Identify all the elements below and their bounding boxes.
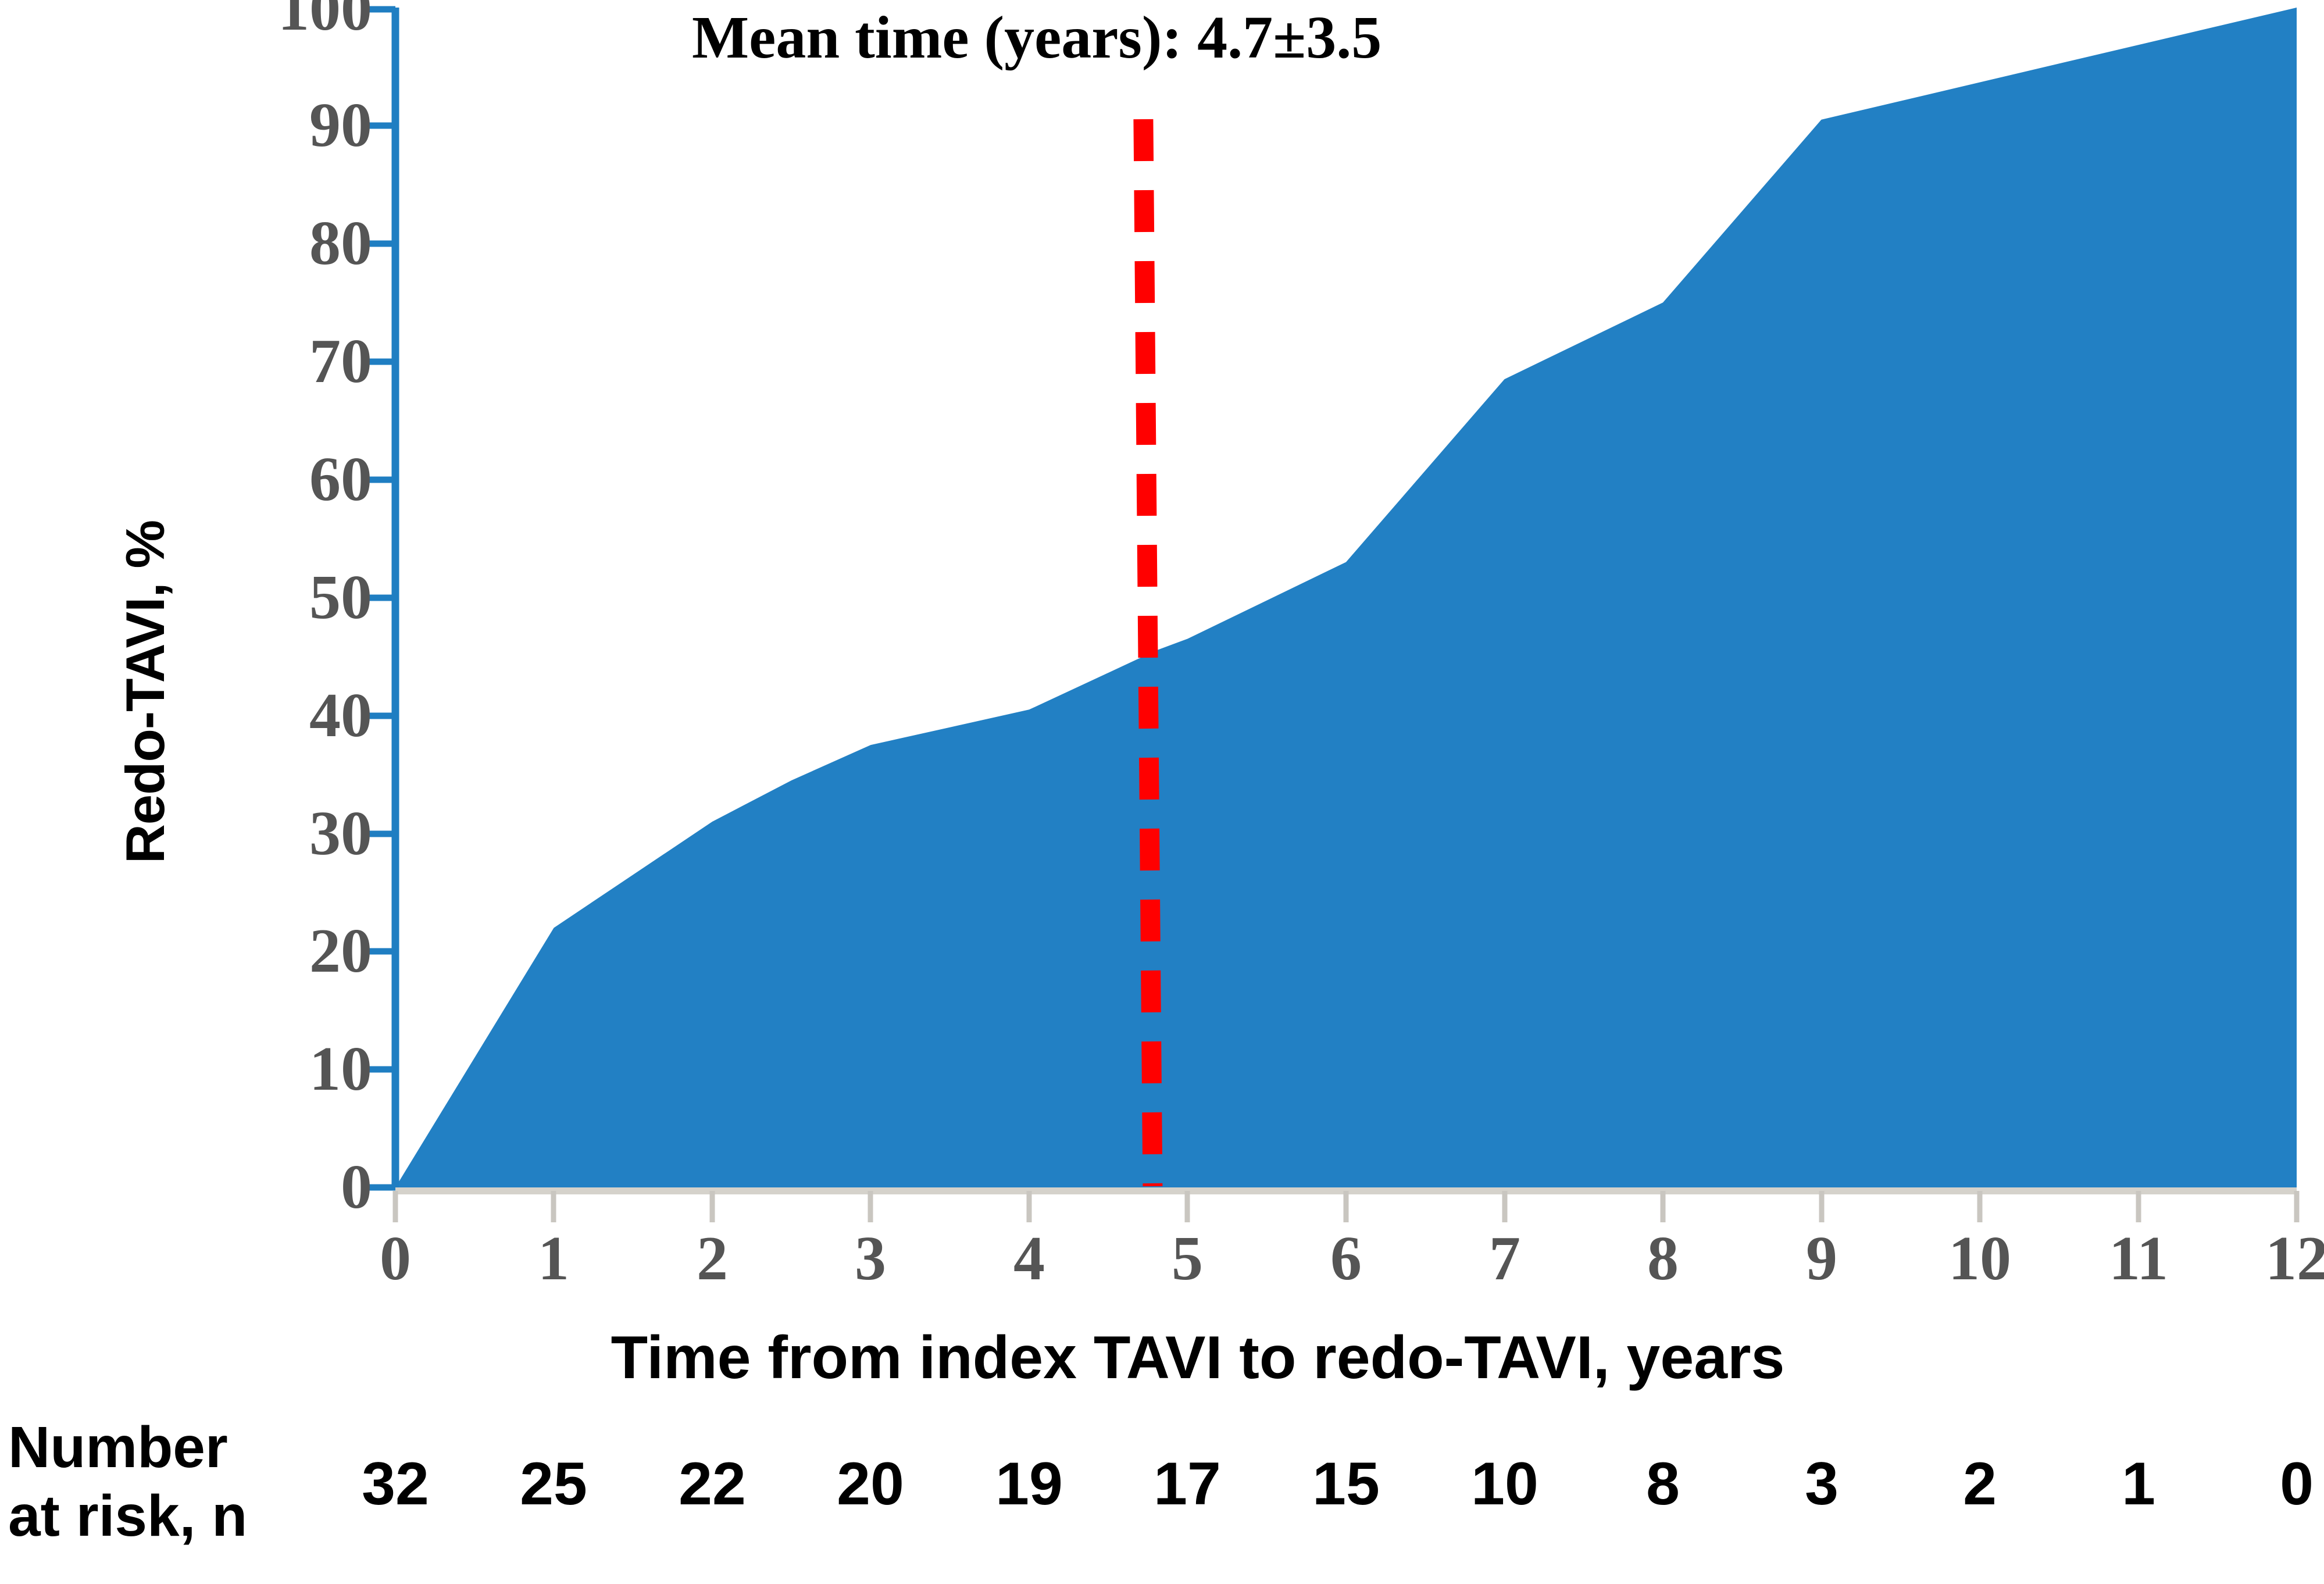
risk-value: 1 (2075, 1449, 2202, 1519)
x-tick-label: 0 (331, 1224, 459, 1294)
x-tick-label: 6 (1282, 1224, 1410, 1294)
figure-redo-tavi-cumulative-incidence: Mean time (years): 4.7±3.5 Redo-TAVI, % … (0, 0, 2324, 1584)
number-at-risk-values: 32 25 22 20 19 17 15 10 8 3 2 1 0 (0, 1449, 2324, 1531)
chart-plot-area: Mean time (years): 4.7±3.5 Redo-TAVI, % … (0, 0, 2324, 1303)
x-tick-label: 12 (2233, 1224, 2324, 1294)
x-tick-label: 7 (1441, 1224, 1569, 1294)
risk-value: 25 (490, 1449, 617, 1519)
x-tick-label: 2 (648, 1224, 776, 1294)
y-axis-ticks (368, 9, 395, 1187)
y-tick-label: 10 (81, 1038, 372, 1101)
risk-value: 17 (1123, 1449, 1251, 1519)
y-tick-label: 100 (81, 0, 372, 41)
risk-value: 19 (965, 1449, 1093, 1519)
number-at-risk-block: Number at risk, n 32 25 22 20 19 17 15 1… (0, 1413, 2324, 1584)
x-axis-ticks (395, 1191, 2297, 1222)
risk-value: 8 (1599, 1449, 1727, 1519)
y-tick-label: 40 (81, 684, 372, 747)
risk-value: 0 (2233, 1449, 2324, 1519)
x-tick-label: 3 (806, 1224, 934, 1294)
risk-value: 20 (806, 1449, 934, 1519)
x-tick-label: 10 (1916, 1224, 2044, 1294)
series-area-redo-tavi (395, 8, 2297, 1187)
x-tick-label: 1 (490, 1224, 617, 1294)
x-axis-tick-labels: 0 1 2 3 4 5 6 7 8 9 10 11 12 (0, 1224, 2324, 1300)
mean-time-annotation: Mean time (years): 4.7±3.5 (692, 6, 1381, 70)
risk-value: 15 (1282, 1449, 1410, 1519)
y-tick-label: 80 (81, 212, 372, 275)
risk-value: 32 (331, 1449, 459, 1519)
x-tick-label: 4 (965, 1224, 1093, 1294)
y-tick-label: 60 (81, 448, 372, 511)
y-tick-label: 30 (81, 802, 372, 865)
risk-value: 22 (648, 1449, 776, 1519)
x-tick-label: 11 (2075, 1224, 2202, 1294)
x-tick-label: 8 (1599, 1224, 1727, 1294)
risk-value: 2 (1916, 1449, 2044, 1519)
y-tick-label: 20 (81, 920, 372, 983)
x-tick-label: 5 (1123, 1224, 1251, 1294)
y-tick-label: 50 (81, 566, 372, 629)
x-axis-title: Time from index TAVI to redo-TAVI, years (326, 1323, 2070, 1393)
x-tick-label: 9 (1758, 1224, 1886, 1294)
y-tick-label: 90 (81, 94, 372, 157)
y-axis-tick-labels: 0 10 20 30 40 50 60 70 80 90 100 (76, 0, 372, 1221)
risk-value: 10 (1441, 1449, 1569, 1519)
risk-value: 3 (1758, 1449, 1886, 1519)
y-tick-label: 70 (81, 330, 372, 393)
y-tick-label: 0 (81, 1156, 372, 1219)
